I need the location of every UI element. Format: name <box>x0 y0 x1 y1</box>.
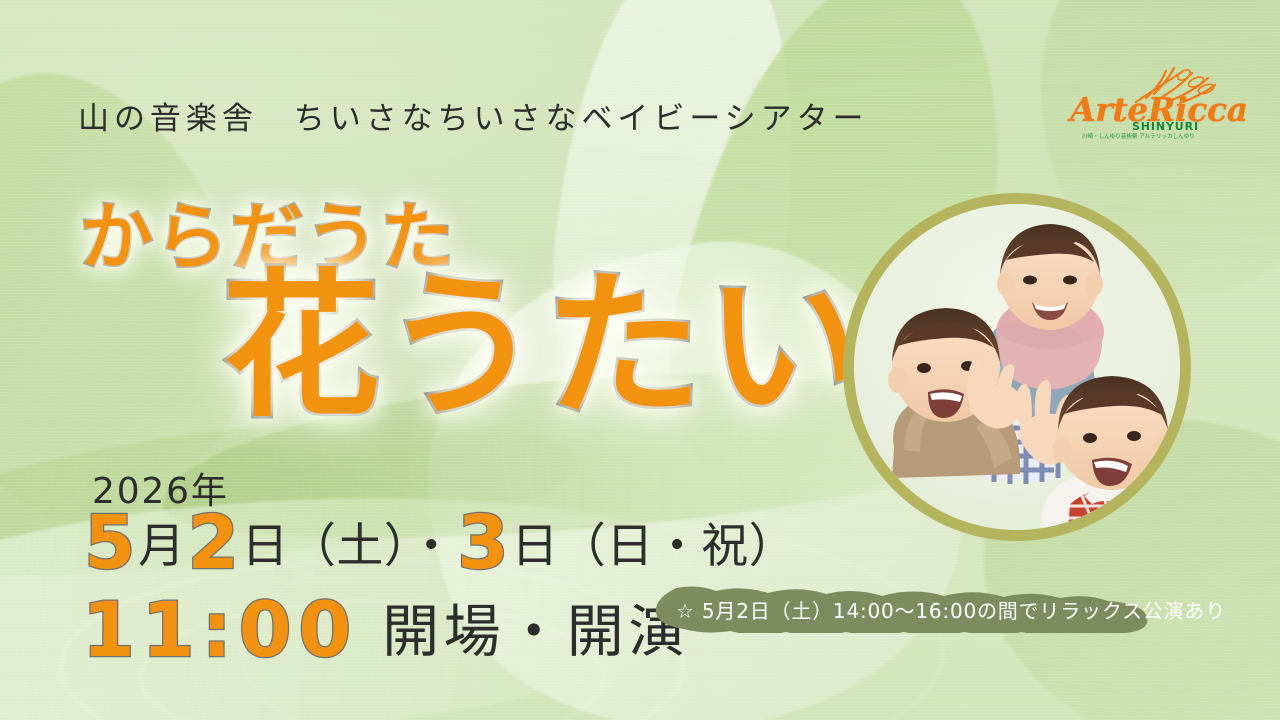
time-value: 11:00 <box>82 585 358 674</box>
relax-performance-banner: ☆ 5月2日（土）14:00〜16:00の間でリラックス公演あり <box>646 586 1256 633</box>
event-time: 11:00開場・開演 <box>82 585 690 674</box>
date-month-number: 5 <box>82 500 138 586</box>
three-babies-illustration <box>854 204 1180 530</box>
banner-note-text: ☆ 5月2日（土）14:00〜16:00の間でリラックス公演あり <box>646 586 1256 633</box>
babies-photo <box>843 193 1191 541</box>
date-day1-number: 2 <box>185 500 241 586</box>
date-day2-number: 3 <box>455 500 511 586</box>
date-month-unit: 月 <box>138 519 185 574</box>
photo-image <box>854 204 1180 530</box>
event-date: 5月2日（土）・3日（日・祝） <box>82 500 796 586</box>
time-label: 開場・開演 <box>382 599 690 665</box>
arte-ricca-logo[interactable]: ArteRicca SHINYURI 川崎・しんゆり芸術祭 アルテリッカしんゆり <box>1070 64 1220 146</box>
date-day1-unit: 日（土）・ <box>241 519 455 574</box>
date-day2-unit: 日（日・祝） <box>511 519 796 574</box>
logo-fineprint: 川崎・しんゆり芸術祭 アルテリッカしんゆり <box>1082 132 1195 140</box>
page-title: 花うたい <box>222 268 867 426</box>
header-subtitle: 山の音楽舎 ちいさなちいさなベイビーシアター <box>78 93 869 138</box>
poster-canvas: 山の音楽舎 ちいさなちいさなベイビーシアター ArteRicca SHINYUR… <box>0 0 1280 720</box>
photo-ring-border <box>843 193 1191 541</box>
